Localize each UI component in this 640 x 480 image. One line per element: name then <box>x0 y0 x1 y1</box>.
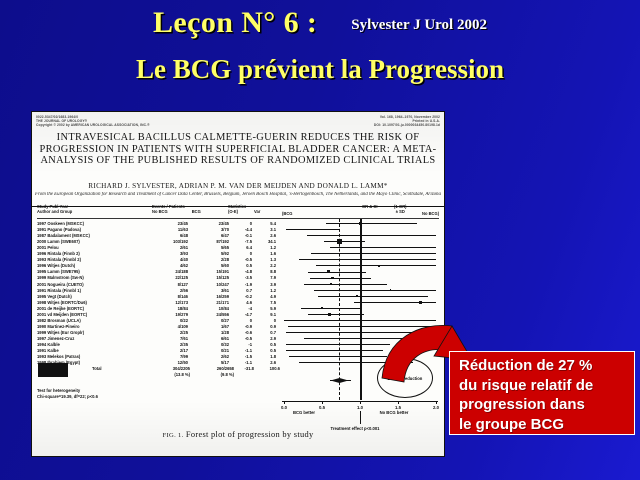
row-var: 7.5 <box>256 300 276 305</box>
axis-note-no-bcg-better: No BCG better <box>372 411 416 416</box>
row-events-bcg: 6/61 <box>195 336 229 341</box>
row-confidence-interval <box>318 296 428 297</box>
row-confidence-interval <box>299 259 436 260</box>
row-oe: 0.5 <box>232 263 252 268</box>
callout-line-4: le groupe BCG <box>459 415 627 435</box>
row-point-estimate <box>330 283 332 285</box>
row-var: 2.2 <box>256 263 276 268</box>
paper-scan-image: 0022-5347/02/1683-1964/0 THE JOURNAL OF … <box>31 111 445 457</box>
row-var: 7.9 <box>256 275 276 280</box>
pooled-effect-line <box>339 219 340 400</box>
row-study-name: 1994 Kalble <box>37 342 60 347</box>
row-events-bcg: 2/28 <box>195 257 229 262</box>
row-confidence-interval <box>308 314 363 315</box>
row-point-estimate <box>356 295 358 297</box>
row-oe: 6.4 <box>232 245 252 250</box>
row-events-no-bcg: 24/188 <box>154 269 188 274</box>
row-events-no-bcg: 0/22 <box>154 318 188 323</box>
row-events-no-bcg: 2/25 <box>154 330 188 335</box>
row-study-name: 1982 Brosman (UCLA) <box>37 318 81 323</box>
row-point-estimate <box>419 301 422 304</box>
row-var: 8.8 <box>256 269 276 274</box>
total-no-bcg: 304/2205 <box>150 366 190 371</box>
row-events-bcg: 6/47 <box>195 233 229 238</box>
row-confidence-interval <box>311 253 436 254</box>
row-var: 5.9 <box>256 306 276 311</box>
row-oe: -0.2 <box>232 294 252 299</box>
row-oe: -7.5 <box>232 239 252 244</box>
row-events-no-bcg: 8/127 <box>154 282 188 287</box>
row-confidence-interval <box>314 290 436 291</box>
row-point-estimate <box>314 356 315 357</box>
row-oe: -1.1 <box>232 348 252 353</box>
row-study-name: 1991 Kalbe <box>37 348 59 353</box>
row-oe: -0.5 <box>232 336 252 341</box>
row-events-bcg: 5/92 <box>195 251 229 256</box>
row-study-name: 1993 Rintala (Finnbl 2) <box>37 257 81 262</box>
callout-line-2: du risque relatif de <box>459 376 627 396</box>
plot-header-bcg: (BCG <box>282 212 292 217</box>
row-events-no-bcg: 12/173 <box>154 300 188 305</box>
total-oe: -31.8 <box>232 366 254 371</box>
heterogeneity-label: Test for heterogeneity <box>37 388 80 393</box>
row-study-name: 2001 Pelou <box>37 245 59 250</box>
row-events-bcg: 3/70 <box>195 227 229 232</box>
row-events-bcg: 23/45 <box>195 221 229 226</box>
row-oe: -1 <box>232 342 252 347</box>
row-confidence-interval <box>301 308 362 309</box>
row-events-bcg: 24/556 <box>195 312 229 317</box>
x-tick-label: 2.0 <box>433 405 439 410</box>
plot-header-no-bcg: No BCG) <box>422 212 439 217</box>
row-confidence-interval <box>289 356 387 357</box>
row-confidence-interval <box>304 284 387 285</box>
row-events-no-bcg: 103/192 <box>154 239 188 244</box>
row-var: 2.6 <box>256 233 276 238</box>
row-events-no-bcg: 6/48 <box>154 233 188 238</box>
total-marker <box>38 363 68 377</box>
x-tick-label: 0.0 <box>281 405 287 410</box>
row-events-no-bcg: 4/62 <box>154 263 188 268</box>
row-events-bcg: 0/32 <box>195 342 229 347</box>
row-oe: 0 <box>232 221 252 226</box>
row-events-no-bcg: 7/61 <box>154 336 188 341</box>
row-var: 1.8 <box>256 354 276 359</box>
row-events-bcg: 10/247 <box>195 282 229 287</box>
journal-header-left: 0022-5347/02/1683-1964/0 THE JOURNAL OF … <box>36 115 150 128</box>
row-point-estimate <box>327 270 330 273</box>
row-var: 9.1 <box>256 312 276 317</box>
row-events-bcg: 21/171 <box>195 300 229 305</box>
row-study-name: 1993 Melekos (Patras) <box>37 354 80 359</box>
row-oe: -4.7 <box>232 312 252 317</box>
row-oe: -0.6 <box>232 330 252 335</box>
conclusion-callout: Réduction de 27 % du risque relatif de p… <box>449 351 635 435</box>
row-events-bcg: 0/21 <box>195 348 229 353</box>
total-bcg: 260/2658 <box>194 366 234 371</box>
row-events-no-bcg: 8/146 <box>154 294 188 299</box>
row-oe: -4 <box>232 306 252 311</box>
total-no-bcg-pct: (13.8 %) <box>150 372 190 377</box>
row-study-name: 1995 Vegt (Dutch) <box>37 294 72 299</box>
row-confidence-interval <box>316 265 436 266</box>
column-header-1-minus-or: (1-OR)± SD <box>394 205 407 214</box>
figure-caption: FIG. 1. Forest plot of progression by st… <box>32 430 444 439</box>
row-oe: -4.8 <box>232 269 252 274</box>
row-point-estimate <box>344 259 345 260</box>
row-point-estimate <box>356 235 358 237</box>
row-var: 3.1 <box>256 227 276 232</box>
row-point-estimate <box>378 265 380 267</box>
row-point-estimate <box>333 362 335 364</box>
row-events-bcg: 16/259 <box>195 294 229 299</box>
row-events-bcg: 2/62 <box>195 354 229 359</box>
row-oe: -0.5 <box>232 257 252 262</box>
row-oe: -0.9 <box>232 324 252 329</box>
row-study-name: 1987 Badalament (MSKCC) <box>37 233 90 238</box>
treatment-effect-stem <box>360 411 361 424</box>
row-confidence-interval <box>286 344 391 345</box>
row-oe: 4.6 <box>232 300 252 305</box>
row-var: 0 <box>256 318 276 323</box>
row-events-bcg: 3/61 <box>195 288 229 293</box>
row-study-name: 1995 Lamm (SWE795) <box>37 269 80 274</box>
row-study-name: 1991 Rintala (Finnbl 1) <box>37 288 81 293</box>
row-oe: 0 <box>232 318 252 323</box>
row-oe: 0 <box>232 251 252 256</box>
row-point-estimate <box>300 350 301 351</box>
row-events-no-bcg: 4/40 <box>154 257 188 262</box>
row-events-no-bcg: 4/109 <box>154 324 188 329</box>
reference-line-null <box>360 219 362 400</box>
row-point-estimate <box>328 313 331 316</box>
row-events-bcg: 87/192 <box>195 239 229 244</box>
row-point-estimate <box>321 307 324 310</box>
row-var: 0.5 <box>256 348 276 353</box>
row-point-estimate <box>318 332 319 333</box>
row-events-bcg: 5/60 <box>195 263 229 268</box>
axis-note-bcg-better: BCG better <box>284 411 324 416</box>
row-point-estimate <box>331 277 334 280</box>
column-header-statistics: Statistics (O-E) Var <box>228 205 260 215</box>
row-events-bcg: 1/67 <box>195 324 229 329</box>
row-events-no-bcg: 2/35 <box>154 342 188 347</box>
total-label: Total <box>92 366 102 371</box>
slide-canvas: Leçon N° 6 :Sylvester J Urol 2002 Le BCG… <box>0 0 640 480</box>
column-header-or-ci: OR & CI <box>362 205 377 210</box>
row-oe: 0.7 <box>232 288 252 293</box>
row-events-bcg: 5/17 <box>195 360 229 365</box>
x-tick-label: 1.5 <box>395 405 401 410</box>
row-events-no-bcg: 11/63 <box>154 227 188 232</box>
row-var: 0.9 <box>256 324 276 329</box>
row-events-no-bcg: 7/99 <box>154 354 188 359</box>
header-rule <box>37 218 439 219</box>
row-events-no-bcg: 2/17 <box>154 348 188 353</box>
total-bcg-pct: (9.8 %) <box>194 372 234 377</box>
row-var: 4.9 <box>256 294 276 299</box>
slide-title-area: Leçon N° 6 :Sylvester J Urol 2002 Le BCG… <box>0 0 640 108</box>
callout-line-3: progression dans <box>459 395 627 415</box>
row-point-estimate <box>348 338 350 340</box>
callout-line-1: Réduction de 27 % <box>459 356 627 376</box>
row-var: 3.9 <box>256 282 276 287</box>
row-events-bcg: 10/84 <box>195 306 229 311</box>
row-study-name: 2001 Nogueira (CUETO) <box>37 282 84 287</box>
row-events-bcg: 15/191 <box>195 269 229 274</box>
row-oe: -0.1 <box>232 233 252 238</box>
row-events-no-bcg: 3/93 <box>154 251 188 256</box>
row-oe: -1.9 <box>232 282 252 287</box>
title-line-1: Leçon N° 6 :Sylvester J Urol 2002 <box>0 6 640 40</box>
row-var: 1.3 <box>256 257 276 262</box>
row-events-no-bcg: 12/50 <box>154 360 188 365</box>
journal-header-right: Vol. 168, 1964–1970, November 2002 Print… <box>374 115 440 128</box>
row-events-no-bcg: 22/125 <box>154 275 188 280</box>
row-events-no-bcg: 18/84 <box>154 306 188 311</box>
row-confidence-interval <box>324 241 365 242</box>
row-confidence-interval <box>286 229 341 230</box>
x-tick-label: 1.0 <box>357 405 363 410</box>
page-title: Leçon N° 6 : <box>153 6 317 40</box>
row-oe: -1.1 <box>232 360 252 365</box>
row-oe: -3.5 <box>232 275 252 280</box>
row-study-name: 1996 Witjes (Dutch) <box>37 263 75 268</box>
row-point-estimate <box>301 229 303 231</box>
row-study-name: 2001 vd Meijden (EORTC) <box>37 312 87 317</box>
row-study-name: 1999 Malmstrom (Sw-N) <box>37 275 84 280</box>
row-oe: -4.4 <box>232 227 252 232</box>
row-var: 5.4 <box>256 221 276 226</box>
row-var: 2.6 <box>256 360 276 365</box>
column-header-study: Study Publ Year Author and Group <box>37 205 72 215</box>
row-var: 2.9 <box>256 336 276 341</box>
row-point-estimate <box>305 344 306 345</box>
row-study-name: 1997 Jimenez-Cruz <box>37 336 74 341</box>
paper-title: INTRAVESICAL BACILLUS CALMETTE-GUERIN RE… <box>32 132 444 167</box>
row-var: 1.6 <box>256 251 276 256</box>
row-study-name: 1999 Witjes (Eur Groplr) <box>37 330 84 335</box>
row-oe: -1.5 <box>232 354 252 359</box>
row-study-name: 1996 Rintala (Finnb 2) <box>37 251 80 256</box>
row-var: 1.2 <box>256 245 276 250</box>
row-point-estimate <box>318 326 319 327</box>
row-study-name: 1997 Ooskeen (MSKCC) <box>37 221 84 226</box>
row-events-no-bcg: 2/56 <box>154 288 188 293</box>
paper-authors: RICHARD J. SYLVESTER, ADRIAN P. M. VAN D… <box>32 182 444 190</box>
row-confidence-interval <box>308 272 366 273</box>
row-study-name: 2000 Lamm (SWE607) <box>37 239 80 244</box>
row-study-name: 1990 Martinez-Pineiro <box>37 324 80 329</box>
row-point-estimate <box>390 289 391 290</box>
row-events-bcg: 1/28 <box>195 330 229 335</box>
row-var: 1.2 <box>256 288 276 293</box>
row-confidence-interval <box>354 302 436 303</box>
x-tick-label: 0.5 <box>319 405 325 410</box>
slide-subtitle: Le BCG prévient la Progression <box>0 54 640 85</box>
row-events-no-bcg: 2/61 <box>154 245 188 250</box>
heterogeneity-value: Chi-square=19.39, df=22; p<0.6 <box>37 394 98 399</box>
row-confidence-interval <box>310 278 372 279</box>
row-events-bcg: 15/125 <box>195 275 229 280</box>
row-study-name: 2001 de Reijke (EORTC) <box>37 306 84 311</box>
source-reference: Sylvester J Urol 2002 <box>351 17 487 34</box>
row-point-estimate <box>420 247 421 248</box>
row-events-no-bcg: 19/279 <box>154 312 188 317</box>
row-var: 34.1 <box>256 239 276 244</box>
row-var: 0.5 <box>256 342 276 347</box>
row-var: 0.7 <box>256 330 276 335</box>
total-var: 100.6 <box>256 366 280 371</box>
row-study-name: 1998 Witjes (EORTC/Du6) <box>37 300 87 305</box>
column-header-events: Events / Patients No BCG BCG <box>152 205 201 215</box>
row-confidence-interval <box>307 235 436 236</box>
row-events-bcg: 5/65 <box>195 245 229 250</box>
row-study-name: 1991 Pagano (Padova) <box>37 227 81 232</box>
row-events-bcg: 0/27 <box>195 318 229 323</box>
row-events-no-bcg: 23/45 <box>154 221 188 226</box>
